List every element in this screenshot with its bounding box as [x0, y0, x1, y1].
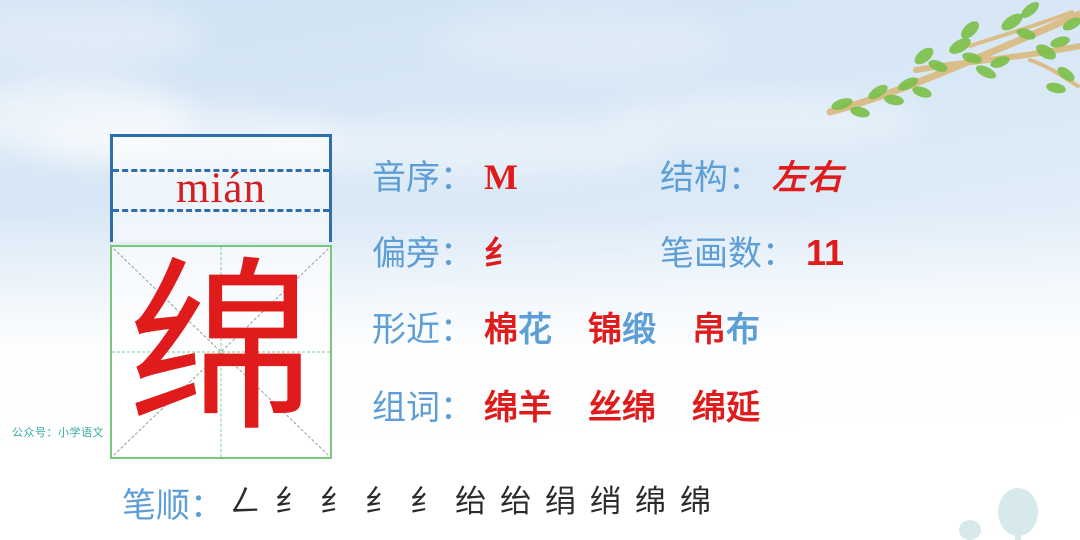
- similar-word-char-first: 棉: [484, 310, 518, 350]
- similar-word-char-first: 锦: [588, 310, 622, 350]
- info-row: 音序 ： M 结构 ： 左右: [372, 150, 1062, 226]
- bihuashu-colon: ：: [762, 226, 796, 275]
- stroke-step: 纟: [320, 487, 351, 518]
- stroke-order-row: 笔顺： 𠃋纟纟纟纟绐绐绢绡绵绵: [122, 478, 1022, 527]
- compound-word-list: 绵羊丝绵绵延: [484, 380, 760, 429]
- cloud-decoration: [430, 10, 730, 74]
- stroke-step: 绐: [455, 487, 486, 518]
- zuci-colon: ：: [440, 380, 474, 429]
- info-row-compounds: 组词 ： 绵羊丝绵绵延: [372, 380, 1062, 458]
- info-row-similar: 形近 ： 棉花锦缎帛布: [372, 302, 1062, 380]
- jiegou-value: 左右: [772, 150, 844, 199]
- yinxu-colon: ：: [440, 150, 474, 199]
- jiegou-label: 结构: [660, 150, 728, 199]
- character-grid-box: 绵: [110, 245, 332, 459]
- field-bihuashu: 笔画数 ： 11: [660, 226, 844, 275]
- stroke-step: 绵: [635, 487, 666, 518]
- similar-word: 棉花: [484, 302, 552, 351]
- xingjin-colon: ：: [440, 302, 474, 351]
- tree-branch-icon: [820, 0, 1080, 135]
- pianpang-label: 偏旁: [372, 226, 440, 275]
- pianpang-value: 纟: [484, 226, 518, 275]
- stroke-step-list: 𠃋纟纟纟纟绐绐绢绡绵绵: [230, 487, 711, 518]
- info-panel: 音序 ： M 结构 ： 左右 偏旁 ： 纟 笔画数 ： 11 形近: [372, 150, 1062, 458]
- similar-word-char-second: 缎: [622, 310, 656, 350]
- zuci-label: 组词: [372, 380, 440, 429]
- pinyin-text: mián: [113, 153, 329, 225]
- character-card: 公众号：小学语文 mián 绵 音序 ： M 结构 ： 左右: [0, 0, 1080, 540]
- field-jiegou: 结构 ： 左右: [660, 150, 844, 199]
- bihuashu-value: 11: [806, 232, 844, 274]
- similar-word-list: 棉花锦缎帛布: [484, 302, 760, 351]
- pinyin-grid-box: mián: [110, 134, 332, 242]
- similar-word: 帛布: [692, 302, 760, 351]
- bishun-label: 笔顺: [122, 486, 190, 526]
- info-row: 偏旁 ： 纟 笔画数 ： 11: [372, 226, 1062, 302]
- watermark-text: 公众号：小学语文: [12, 424, 104, 440]
- similar-word: 锦缎: [588, 302, 656, 351]
- stroke-step: 纟: [410, 487, 441, 518]
- compound-word: 绵羊: [484, 380, 552, 429]
- stroke-step: 绐: [500, 487, 531, 518]
- similar-word-char-second: 花: [518, 310, 552, 350]
- yinxu-label: 音序: [372, 150, 440, 199]
- stroke-step: 𠃋: [230, 487, 261, 518]
- stroke-step: 绵: [680, 487, 711, 518]
- cloud-decoration: [0, 0, 200, 70]
- yinxu-value: M: [484, 156, 518, 198]
- stroke-step: 纟: [275, 487, 306, 518]
- similar-word-char-first: 帛: [692, 310, 726, 350]
- main-character: 绵: [112, 247, 330, 457]
- stroke-step: 绢: [545, 487, 576, 518]
- stroke-step: 绡: [590, 487, 621, 518]
- field-yinxu: 音序 ： M: [372, 150, 660, 199]
- bishun-colon: ：: [190, 486, 224, 526]
- jiegou-colon: ：: [728, 150, 762, 199]
- xingjin-label: 形近: [372, 302, 440, 351]
- similar-word-char-second: 布: [726, 310, 760, 350]
- stroke-step: 纟: [365, 487, 396, 518]
- bishun-label-wrap: 笔顺：: [122, 478, 224, 527]
- compound-word: 绵延: [692, 380, 760, 429]
- bihuashu-label: 笔画数: [660, 226, 762, 275]
- field-pianpang: 偏旁 ： 纟: [372, 226, 660, 275]
- pianpang-colon: ：: [440, 226, 474, 275]
- compound-word: 丝绵: [588, 380, 656, 429]
